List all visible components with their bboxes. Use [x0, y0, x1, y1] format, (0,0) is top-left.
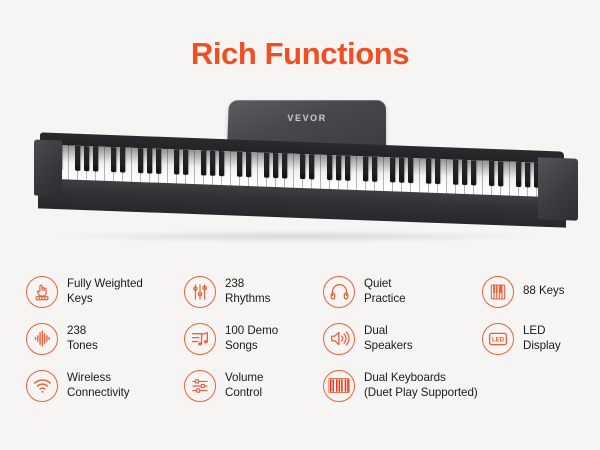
- music-note-list-icon: [184, 323, 216, 355]
- piano-keys-icon: [482, 276, 514, 308]
- piano-right-end-cap: [538, 157, 578, 220]
- feature-label: Fully Weighted Keys: [67, 277, 143, 305]
- dual-keyboard-icon: [323, 370, 355, 402]
- feature-label: 88 Keys: [523, 284, 565, 298]
- feature-item-wifi[interactable]: Wireless Connectivity: [26, 362, 184, 409]
- feature-item-hand-pressing-keys[interactable]: Fully Weighted Keys: [26, 268, 184, 315]
- led-display-icon: LED: [482, 323, 514, 355]
- feature-label: 238 Tones: [67, 324, 98, 352]
- feature-item-sound-wave[interactable]: 238 Tones: [26, 315, 184, 362]
- feature-item-speaker-waves[interactable]: Dual Speakers: [323, 315, 482, 362]
- feature-label: Dual Speakers: [364, 324, 413, 352]
- product-image: VEVOR: [0, 92, 600, 252]
- piano-drop-shadow: [46, 232, 546, 241]
- digital-piano: [38, 142, 566, 238]
- feature-item-dual-keyboard[interactable]: Dual Keyboards (Duet Play Supported): [323, 362, 482, 409]
- feature-label: 100 Demo Songs: [225, 324, 278, 352]
- feature-item-led-display[interactable]: LED LED Display: [482, 315, 598, 362]
- feature-item-headphones[interactable]: Quiet Practice: [323, 268, 482, 315]
- hand-pressing-keys-icon: [26, 276, 58, 308]
- horizontal-sliders-icon: [184, 370, 216, 402]
- feature-item-music-note-list[interactable]: 100 Demo Songs: [184, 315, 323, 362]
- svg-text:LED: LED: [492, 336, 505, 343]
- speaker-waves-icon: [323, 323, 355, 355]
- sound-wave-icon: [26, 323, 58, 355]
- feature-label: Volume Control: [225, 371, 263, 399]
- headphones-icon: [323, 276, 355, 308]
- feature-item-horizontal-sliders[interactable]: Volume Control: [184, 362, 323, 409]
- feature-label: 238 Rhythms: [225, 277, 270, 305]
- piano-left-end-cap: [34, 139, 62, 196]
- feature-item-piano-keys[interactable]: 88 Keys: [482, 268, 598, 315]
- wifi-icon: [26, 370, 58, 402]
- feature-label: Quiet Practice: [364, 277, 405, 305]
- feature-label: Dual Keyboards (Duet Play Supported): [364, 371, 478, 399]
- brand-logo: VEVOR: [228, 113, 386, 123]
- feature-label: Wireless Connectivity: [67, 371, 130, 399]
- feature-label: LED Display: [523, 324, 561, 352]
- feature-item-vertical-sliders[interactable]: 238 Rhythms: [184, 268, 323, 315]
- feature-grid: Fully Weighted Keys 238 Rhythms Quiet Pr…: [26, 268, 582, 409]
- vertical-sliders-icon: [184, 276, 216, 308]
- page-title: Rich Functions: [0, 36, 600, 72]
